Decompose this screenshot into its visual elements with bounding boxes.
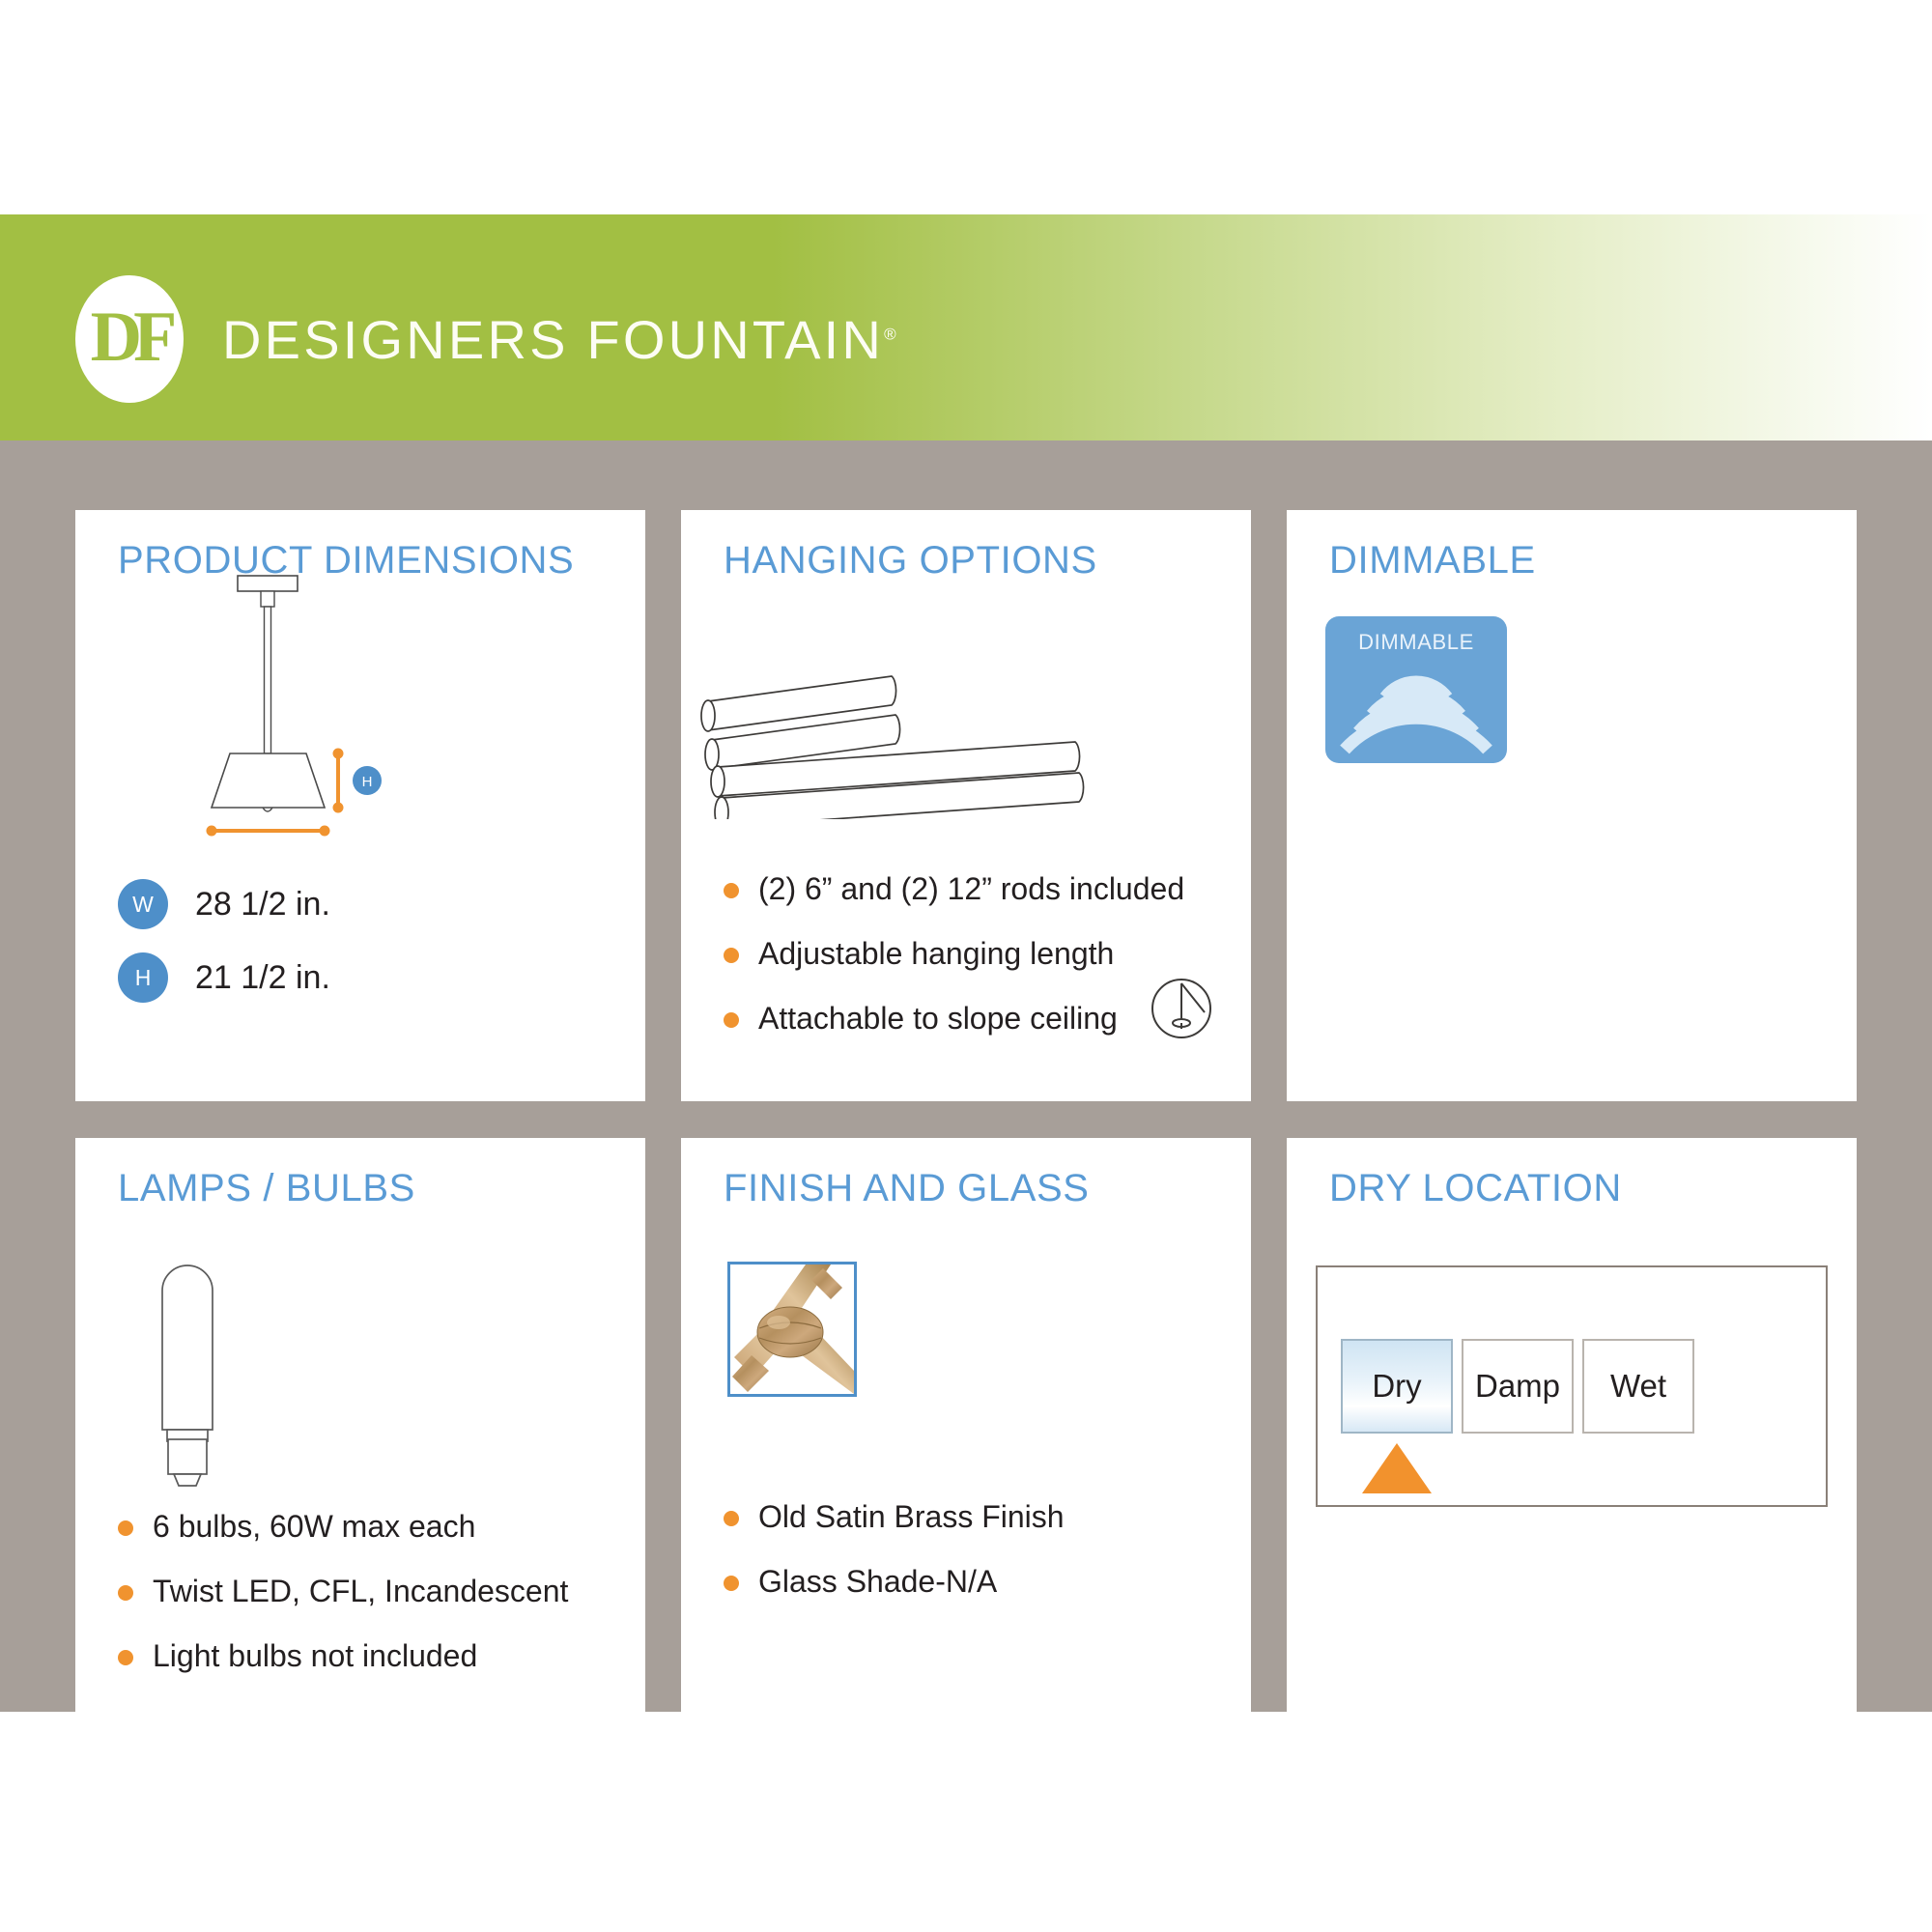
svg-text:H: H: [362, 774, 373, 790]
spec-card-grid: PRODUCT DIMENSIONS: [75, 510, 1857, 1677]
location-rating-panel: Dry Damp Wet: [1316, 1265, 1828, 1507]
brand-name-text: DESIGNERS FOUNTAIN®: [222, 308, 896, 371]
hanging-bullet-3: Attachable to slope ceiling: [758, 999, 1118, 1037]
card-title-finish-and-glass: FINISH AND GLASS: [724, 1167, 1090, 1210]
bullet-dot-icon: [118, 1520, 133, 1536]
bullet-dot-icon: [724, 1511, 739, 1526]
registered-trademark-icon: ®: [884, 325, 896, 343]
finish-bullet-2: Glass Shade-N/A: [758, 1562, 997, 1601]
bulbs-bullet-2: Twist LED, CFL, Incandescent: [153, 1572, 568, 1610]
bullet-dot-icon: [724, 883, 739, 898]
bullet-dot-icon: [118, 1585, 133, 1601]
height-value: 21 1/2 in.: [195, 959, 330, 997]
list-item: 6 bulbs, 60W max each: [118, 1507, 568, 1546]
bullet-dot-icon: [724, 1576, 739, 1591]
location-option-wet[interactable]: Wet: [1582, 1339, 1694, 1434]
dimmable-badge-icon: DIMMABLE: [1325, 616, 1507, 763]
dimmer-waves-icon: [1325, 655, 1507, 763]
slope-ceiling-icon: [1147, 974, 1216, 1043]
dimmable-badge-label: DIMMABLE: [1325, 630, 1507, 655]
logo-monogram-text: DF: [75, 275, 184, 403]
location-option-group: Dry Damp Wet: [1341, 1339, 1703, 1434]
width-value: 28 1/2 in.: [195, 886, 330, 923]
brand-logo-lockup: DF DESIGNERS FOUNTAIN®: [75, 275, 896, 403]
dimension-value-list: W 28 1/2 in. H 21 1/2 in.: [118, 879, 330, 1026]
card-title-dry-location: DRY LOCATION: [1329, 1167, 1622, 1210]
list-item: Glass Shade-N/A: [724, 1562, 1065, 1601]
bulbs-bullet-3: Light bulbs not included: [153, 1636, 477, 1675]
pendant-fixture-drawing: H: [75, 568, 645, 838]
list-item: Adjustable hanging length: [724, 934, 1184, 973]
hanging-options-bullet-list: (2) 6” and (2) 12” rods included Adjusta…: [724, 869, 1184, 1064]
card-finish-and-glass: FINISH AND GLASS: [681, 1138, 1251, 1729]
brand-name-label: DESIGNERS FOUNTAIN: [222, 309, 884, 370]
hanging-rods-illustration: [691, 626, 1232, 819]
card-lamps-bulbs: LAMPS / BULBS 6 bulbs, 60W max each: [75, 1138, 645, 1729]
product-spec-sheet: DF DESIGNERS FOUNTAIN® PRODUCT DIMENSION…: [0, 0, 1932, 1932]
list-item: (2) 6” and (2) 12” rods included: [724, 869, 1184, 908]
bulb-illustration-icon: [118, 1240, 272, 1530]
selected-location-arrow-icon: [1362, 1443, 1432, 1493]
height-badge-icon: H: [118, 952, 168, 1003]
hanging-bullet-2: Adjustable hanging length: [758, 934, 1114, 973]
location-option-damp[interactable]: Damp: [1462, 1339, 1574, 1434]
card-product-dimensions: PRODUCT DIMENSIONS: [75, 510, 645, 1101]
card-title-lamps-bulbs: LAMPS / BULBS: [118, 1167, 415, 1210]
lamps-bulbs-bullet-list: 6 bulbs, 60W max each Twist LED, CFL, In…: [118, 1507, 568, 1701]
list-item: Attachable to slope ceiling: [724, 999, 1184, 1037]
card-dry-location: DRY LOCATION Dry Damp Wet: [1287, 1138, 1857, 1729]
card-dimmable: DIMMABLE DIMMABLE: [1287, 510, 1857, 1101]
card-title-dimmable: DIMMABLE: [1329, 539, 1536, 582]
designers-fountain-logo-icon: DF: [75, 275, 184, 403]
bullet-dot-icon: [724, 948, 739, 963]
list-item: Light bulbs not included: [118, 1636, 568, 1675]
card-hanging-options: HANGING OPTIONS: [681, 510, 1251, 1101]
width-badge-icon: W: [118, 879, 168, 929]
location-option-dry[interactable]: Dry: [1341, 1339, 1453, 1434]
pendant-dimension-diagram: H: [75, 568, 645, 838]
bullet-dot-icon: [724, 1012, 739, 1028]
finish-glass-bullet-list: Old Satin Brass Finish Glass Shade-N/A: [724, 1497, 1065, 1627]
card-title-hanging-options: HANGING OPTIONS: [724, 539, 1097, 582]
bullet-dot-icon: [118, 1650, 133, 1665]
old-satin-brass-finish-art: [730, 1264, 854, 1394]
list-item: Old Satin Brass Finish: [724, 1497, 1065, 1536]
finish-bullet-1: Old Satin Brass Finish: [758, 1497, 1065, 1536]
dimension-row-width: W 28 1/2 in.: [118, 879, 330, 929]
list-item: Twist LED, CFL, Incandescent: [118, 1572, 568, 1610]
finish-swatch-image: [727, 1262, 857, 1397]
hanging-bullet-1: (2) 6” and (2) 12” rods included: [758, 869, 1184, 908]
dimension-row-height: H 21 1/2 in.: [118, 952, 330, 1003]
bulbs-bullet-1: 6 bulbs, 60W max each: [153, 1507, 475, 1546]
